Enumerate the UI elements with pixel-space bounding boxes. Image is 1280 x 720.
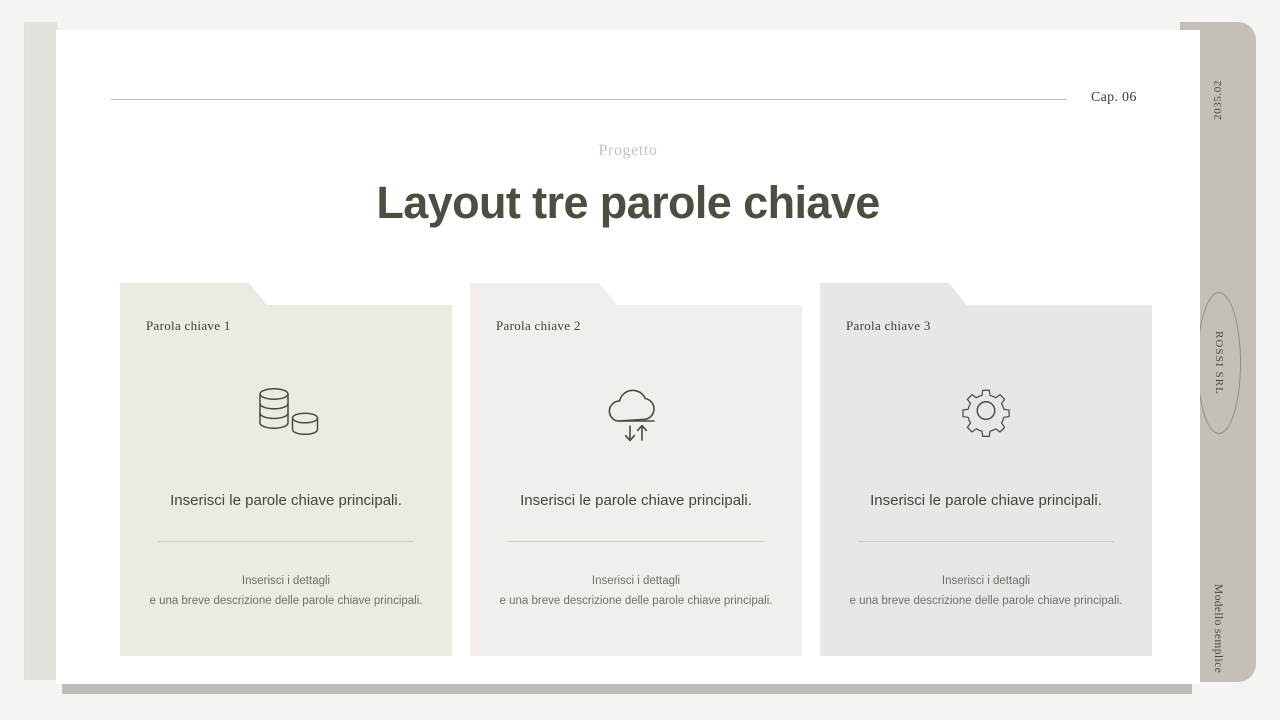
database-stack-icon [120,383,452,445]
chapter-label: Cap. 06 [1091,90,1200,106]
slide-canvas: Cap. 06 Progetto Layout tre parole chiav… [56,30,1200,684]
card-detail: Inserisci i dettagli e una breve descriz… [830,571,1142,612]
slide-eyebrow: Progetto [56,142,1200,160]
slide-frame: 2035.02 ROSSI SRL Modello semplice Cap. … [24,22,1256,682]
keyword-card[interactable]: Parola chiave 1 Inserisci le parole chia… [120,283,452,656]
card-detail-line-1: Inserisci i dettagli [130,571,442,591]
cloud-sync-icon [470,383,802,445]
keyword-card[interactable]: Parola chiave 2 Inserisci le parole chia… [470,283,802,656]
company-badge: ROSSI SRL [1197,292,1241,434]
card-tab-label: Parola chiave 2 [496,318,581,334]
company-badge-text: ROSSI SRL [1213,331,1225,395]
left-decorative-band [24,22,57,680]
card-detail-line-2: e una breve descrizione delle parole chi… [830,591,1142,611]
card-tab-label: Parola chiave 1 [146,318,231,334]
card-detail-line-2: e una breve descrizione delle parole chi… [480,591,792,611]
card-heading: Inserisci le parole chiave principali. [492,491,780,511]
sidebar-footer-text: Modello semplice [1212,584,1224,673]
header-divider [111,99,1066,100]
card-heading: Inserisci le parole chiave principali. [842,491,1130,511]
card-heading: Inserisci le parole chiave principali. [142,491,430,511]
card-detail: Inserisci i dettagli e una breve descriz… [130,571,442,612]
keyword-card[interactable]: Parola chiave 3 Inserisci le parole chia… [820,283,1152,656]
sidebar-code-text: 2035.02 [1212,80,1224,120]
keyword-cards-row: Parola chiave 1 Inserisci le parole chia… [120,283,1152,658]
card-detail-line-1: Inserisci i dettagli [830,571,1142,591]
page-title: Layout tre parole chiave [56,178,1200,228]
gear-icon [820,383,1152,445]
card-divider [158,541,414,542]
card-detail-line-2: e una breve descrizione delle parole chi… [130,591,442,611]
card-detail-line-1: Inserisci i dettagli [480,571,792,591]
card-tab-label: Parola chiave 3 [846,318,931,334]
card-divider [858,541,1114,542]
card-detail: Inserisci i dettagli e una breve descriz… [480,571,792,612]
card-divider [508,541,764,542]
